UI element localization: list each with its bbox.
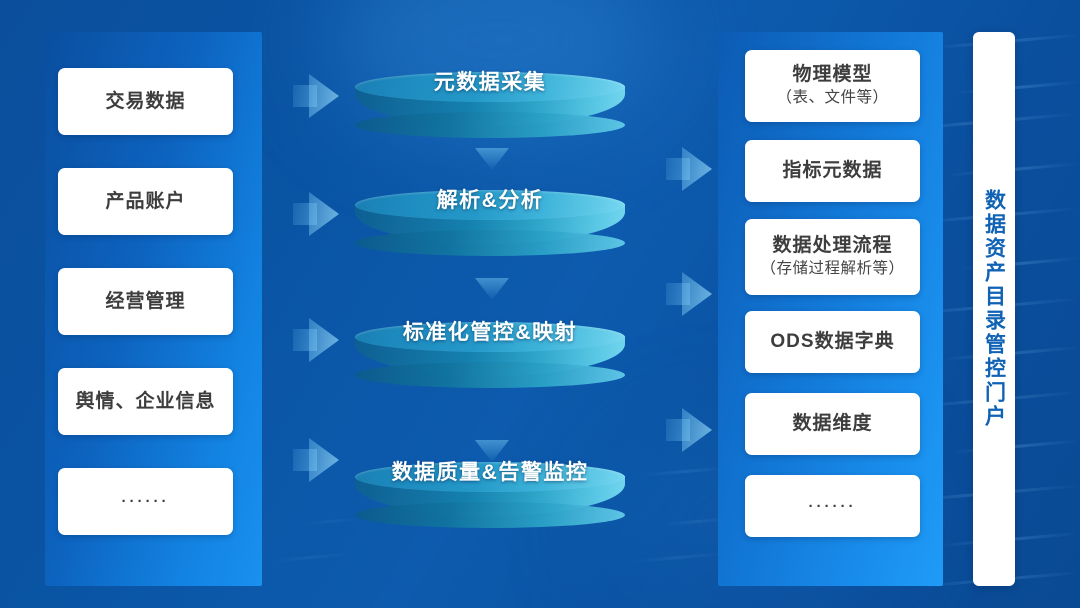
source-card-label: 交易数据: [105, 90, 185, 114]
pipeline-stage-3[interactable]: 标准化管控&映射: [355, 322, 625, 390]
pipeline-stage-1[interactable]: 元数据采集: [355, 72, 625, 140]
cylinder-rim: [355, 230, 625, 256]
pipeline-stage-4[interactable]: 数据质量&告警监控: [355, 462, 625, 530]
output-card-title: 指标元数据: [782, 159, 882, 183]
pipeline-stage-2[interactable]: 解析&分析: [355, 190, 625, 258]
source-card-1[interactable]: 交易数据: [58, 68, 233, 135]
output-card-subtitle: （表、文件等）: [776, 88, 888, 109]
arrow-head: [309, 74, 339, 118]
down-arrow-icon-1: [475, 148, 509, 170]
output-card-3[interactable]: 数据处理流程 （存储过程解析等）: [745, 219, 920, 295]
source-card-label: 经营管理: [105, 290, 185, 314]
source-card-label: 舆情、企业信息: [75, 390, 215, 414]
source-card-5-ellipsis[interactable]: ······: [58, 468, 233, 535]
output-card-title: 物理模型: [792, 63, 872, 87]
pipeline-stage-label: 标准化管控&映射: [355, 316, 625, 346]
output-card-1[interactable]: 物理模型 （表、文件等）: [745, 50, 920, 122]
arrow-head: [309, 318, 339, 362]
pipeline-stage-label: 解析&分析: [355, 184, 625, 214]
output-card-title: 数据处理流程: [772, 234, 892, 258]
portal-label: 数据资产目录管控门户: [984, 189, 1005, 429]
cylinder-rim: [355, 502, 625, 528]
pipeline-stage-label: 元数据采集: [355, 66, 625, 96]
output-card-6-ellipsis[interactable]: ······: [745, 475, 920, 537]
flow-arrow-right-icon-7: [666, 408, 712, 452]
output-card-5[interactable]: 数据维度: [745, 393, 920, 455]
arrow-head: [309, 192, 339, 236]
ellipsis-label: ······: [809, 498, 857, 515]
flow-arrow-right-icon-2: [293, 192, 339, 236]
portal-bar[interactable]: 数据资产目录管控门户: [973, 32, 1015, 586]
source-card-2[interactable]: 产品账户: [58, 168, 233, 235]
arrow-head: [309, 438, 339, 482]
output-card-subtitle: （存储过程解析等）: [760, 259, 904, 280]
flow-arrow-right-icon-4: [293, 438, 339, 482]
arrow-head: [682, 408, 712, 452]
output-card-title: 数据维度: [792, 412, 872, 436]
ellipsis-label: ······: [122, 493, 170, 510]
cylinder-rim: [355, 362, 625, 388]
source-card-label: 产品账户: [105, 190, 185, 214]
down-arrow-icon-2: [475, 278, 509, 300]
output-card-4[interactable]: ODS数据字典: [745, 311, 920, 373]
diagram-canvas: 交易数据 产品账户 经营管理 舆情、企业信息 ······ 元数据采集: [0, 0, 1080, 608]
flow-arrow-right-icon-3: [293, 318, 339, 362]
flow-arrow-right-icon-6: [666, 272, 712, 316]
arrow-head: [682, 147, 712, 191]
source-card-3[interactable]: 经营管理: [58, 268, 233, 335]
flow-arrow-right-icon-5: [666, 147, 712, 191]
flow-arrow-right-icon-1: [293, 74, 339, 118]
output-card-2[interactable]: 指标元数据: [745, 140, 920, 202]
cylinder-rim: [355, 112, 625, 138]
source-card-4[interactable]: 舆情、企业信息: [58, 368, 233, 435]
pipeline-stage-label: 数据质量&告警监控: [355, 456, 625, 486]
arrow-head: [682, 272, 712, 316]
output-card-title: ODS数据字典: [770, 330, 894, 354]
